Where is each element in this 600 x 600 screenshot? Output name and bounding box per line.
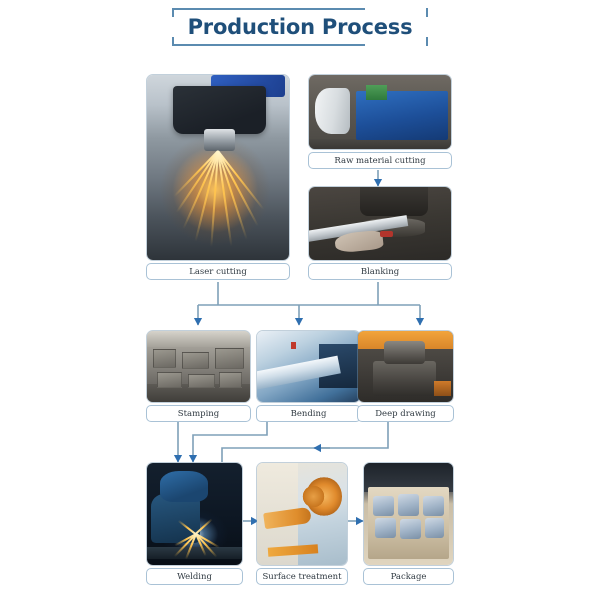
- title-bracket-bottom-line: [172, 44, 365, 46]
- step-label-laser-cutting: Laser cutting: [146, 263, 290, 280]
- blanking-photo: [308, 186, 452, 261]
- title-bracket-bottom-left: [172, 37, 174, 46]
- step-card-bending[interactable]: Bending: [256, 330, 361, 422]
- title-bracket-top-left: [172, 8, 174, 17]
- page-title-box: Production Process: [166, 8, 435, 46]
- step-label-text: Package: [391, 572, 427, 582]
- step-card-welding[interactable]: Welding: [146, 462, 243, 585]
- title-bracket-top-right: [426, 8, 428, 17]
- step-label-deep-drawing: Deep drawing: [357, 405, 454, 422]
- stamping-photo: [146, 330, 251, 403]
- step-label-raw-material-cutting: Raw material cutting: [308, 152, 452, 169]
- step-label-text: Raw material cutting: [334, 156, 425, 166]
- step-card-raw-material-cutting[interactable]: Raw material cutting: [308, 74, 452, 169]
- bending-photo: [256, 330, 361, 403]
- page-title: Production Process: [188, 17, 413, 38]
- package-photo: [363, 462, 454, 566]
- title-bracket-bottom-right: [426, 37, 428, 46]
- step-label-text: Blanking: [361, 267, 399, 277]
- surface-treatment-photo: [256, 462, 348, 566]
- step-label-surface-treatment: Surface treatment: [256, 568, 348, 585]
- step-card-surface-treatment[interactable]: Surface treatment: [256, 462, 348, 585]
- wire-deep-drawing-to-welding: [222, 422, 388, 462]
- step-label-package: Package: [363, 568, 454, 585]
- laser-cutting-photo: [146, 74, 290, 261]
- page-title-container: Production Process: [0, 8, 600, 46]
- title-bracket-top-line: [172, 8, 365, 10]
- step-card-package[interactable]: Package: [363, 462, 454, 585]
- step-label-text: Stamping: [178, 409, 219, 419]
- step-label-text: Laser cutting: [189, 267, 247, 277]
- step-label-text: Bending: [291, 409, 327, 419]
- production-process-infographic: Production Process: [0, 0, 600, 600]
- step-label-welding: Welding: [146, 568, 243, 585]
- raw-material-cutting-photo: [308, 74, 452, 150]
- step-card-stamping[interactable]: Stamping: [146, 330, 251, 422]
- step-label-text: Deep drawing: [375, 409, 436, 419]
- step-label-bending: Bending: [256, 405, 361, 422]
- step-label-stamping: Stamping: [146, 405, 251, 422]
- step-card-deep-drawing[interactable]: Deep drawing: [357, 330, 454, 422]
- step-card-laser-cutting[interactable]: Laser cutting: [146, 74, 290, 280]
- welding-photo: [146, 462, 243, 566]
- wire-bending-to-welding: [193, 422, 267, 462]
- deep-drawing-photo: [357, 330, 454, 403]
- step-card-blanking[interactable]: Blanking: [308, 186, 452, 280]
- step-label-text: Welding: [177, 572, 212, 582]
- step-label-blanking: Blanking: [308, 263, 452, 280]
- step-label-text: Surface treatment: [262, 572, 341, 582]
